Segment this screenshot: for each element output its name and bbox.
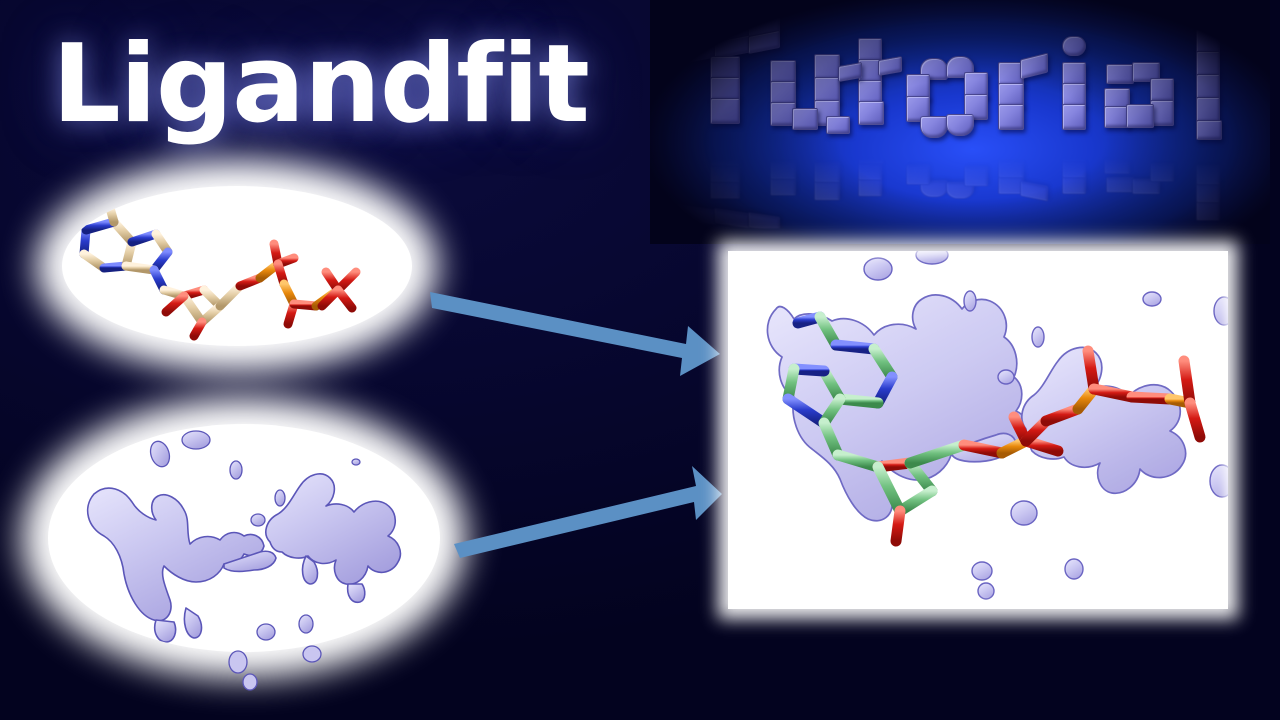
tutorial-3d-artwork (650, 0, 1270, 244)
slide-canvas: Ligandfit (0, 0, 1280, 720)
tutorial-letter-r (994, 58, 1064, 140)
atp-ligand-stick-model (62, 186, 412, 346)
tutorial-letter-t (844, 38, 916, 134)
tutorial-letter-u (768, 56, 854, 134)
tutorial-letter-i (1056, 36, 1108, 136)
input-ligand-card (62, 186, 412, 346)
fitted-ligand-in-density (728, 251, 1228, 609)
electron-density-blob (48, 424, 440, 652)
tutorial-letter-T (672, 22, 782, 130)
tutorial-word (672, 18, 1252, 128)
tutorial-letter-a (1100, 62, 1192, 140)
density-card-clip (48, 424, 440, 652)
tutorial-letter-l (1188, 28, 1236, 140)
tutorial-letter-o (902, 58, 998, 140)
ligand-card-clip (62, 186, 412, 346)
result-panel-content (728, 251, 1228, 609)
tutorial-letters-stage (650, 0, 1270, 244)
input-density-card (48, 424, 440, 652)
result-panel (728, 251, 1228, 609)
density-stray-fragments (180, 640, 360, 710)
arrow-density-to-result (452, 462, 722, 548)
arrow-ligand-to-result (430, 288, 720, 380)
tutorial-word-reflection (672, 154, 1252, 228)
page-title: Ligandfit (52, 28, 589, 141)
